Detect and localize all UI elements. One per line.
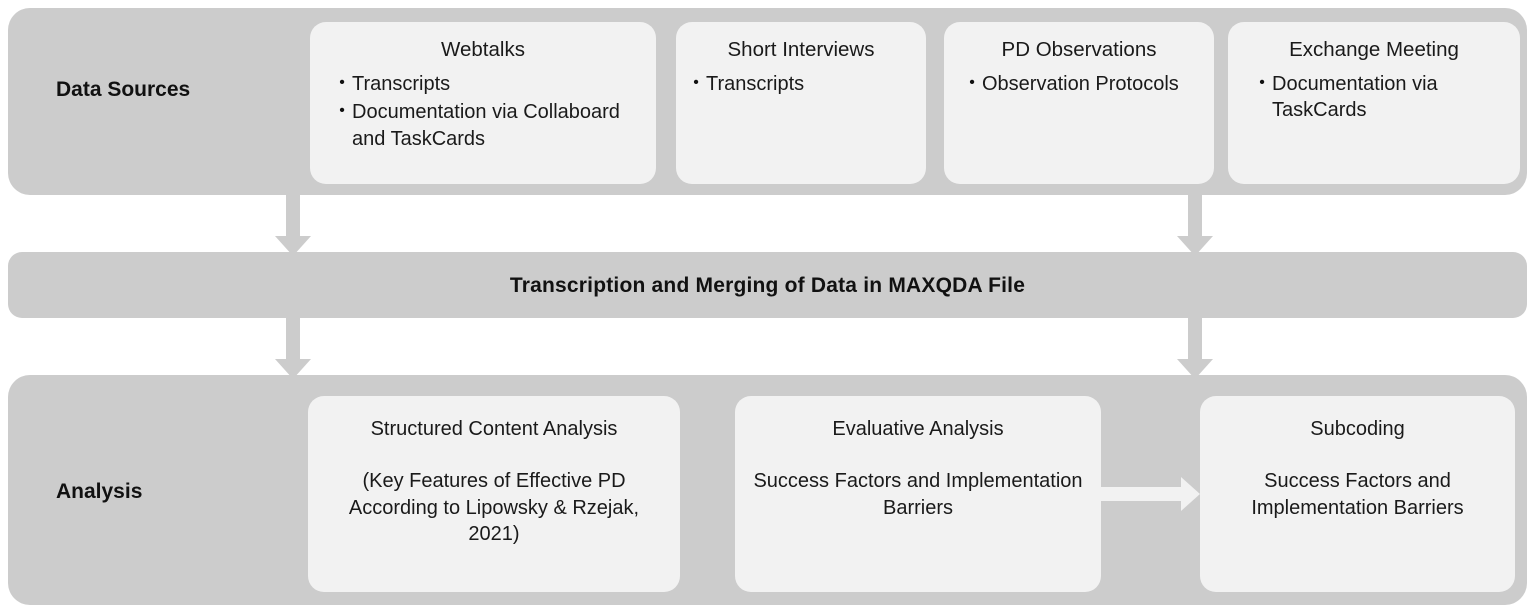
- card-evaluative-analysis-detail: Success Factors and Implementation Barri…: [751, 468, 1085, 521]
- list-item-label: Transcripts: [706, 71, 912, 97]
- list-item: • Documentation via Collaboard and TaskC…: [332, 99, 646, 152]
- data-sources-label: Data Sources: [56, 78, 190, 102]
- arrow-stem: [286, 192, 300, 238]
- card-subcoding[interactable]: Subcoding Success Factors and Implementa…: [1200, 396, 1515, 592]
- list-item-label: Documentation via Collaboard and TaskCar…: [352, 99, 646, 152]
- card-evaluative-analysis[interactable]: Evaluative Analysis Success Factors and …: [735, 396, 1101, 592]
- spacer: [324, 442, 664, 468]
- arrow-down-sources-to-merge-left: [275, 192, 311, 256]
- card-webtalks-title: Webtalks: [310, 22, 656, 63]
- card-pd-observations-body: • Observation Protocols: [944, 63, 1214, 97]
- card-subcoding-title: Subcoding: [1216, 416, 1499, 442]
- card-webtalks-body: • Transcripts • Documentation via Collab…: [310, 63, 656, 152]
- arrow-stem: [286, 315, 300, 361]
- card-webtalks[interactable]: Webtalks • Transcripts • Documentation v…: [310, 22, 656, 184]
- card-structured-content-analysis-body: Structured Content Analysis (Key Feature…: [308, 396, 680, 548]
- spacer: [1216, 442, 1499, 468]
- arrow-stem: [1188, 315, 1202, 361]
- arrow-down-merge-to-analysis-right: [1177, 315, 1213, 379]
- arrow-down-merge-to-analysis-left: [275, 315, 311, 379]
- bullet-icon: •: [686, 71, 706, 96]
- list-item: • Observation Protocols: [962, 71, 1200, 97]
- list-item: • Transcripts: [686, 71, 912, 97]
- arrow-stem: [1188, 192, 1202, 238]
- merge-label: Transcription and Merging of Data in MAX…: [0, 274, 1535, 298]
- bullet-icon: •: [962, 71, 982, 96]
- card-structured-content-analysis-detail: (Key Features of Effective PD According …: [324, 468, 664, 547]
- list-item: • Documentation via TaskCards: [1252, 71, 1506, 124]
- card-structured-content-analysis[interactable]: Structured Content Analysis (Key Feature…: [308, 396, 680, 592]
- bullet-icon: •: [332, 71, 352, 96]
- card-exchange-meeting-title: Exchange Meeting: [1228, 22, 1520, 63]
- card-short-interviews-body: • Transcripts: [676, 63, 926, 97]
- card-subcoding-detail: Success Factors and Implementation Barri…: [1216, 468, 1499, 521]
- diagram-canvas: Data Sources Webtalks • Transcripts • Do…: [0, 0, 1535, 615]
- card-evaluative-analysis-title: Evaluative Analysis: [751, 416, 1085, 442]
- list-item-label: Transcripts: [352, 71, 646, 97]
- list-item-label: Observation Protocols: [982, 71, 1200, 97]
- card-exchange-meeting[interactable]: Exchange Meeting • Documentation via Tas…: [1228, 22, 1520, 184]
- arrow-head: [1181, 477, 1200, 511]
- card-evaluative-analysis-body: Evaluative Analysis Success Factors and …: [735, 396, 1101, 521]
- spacer: [751, 442, 1085, 468]
- arrow-right-evaluative-to-subcoding: [1101, 477, 1201, 511]
- analysis-label: Analysis: [56, 480, 142, 504]
- list-item: • Transcripts: [332, 71, 646, 97]
- bullet-icon: •: [1252, 71, 1272, 96]
- arrow-down-sources-to-merge-right: [1177, 192, 1213, 256]
- card-short-interviews[interactable]: Short Interviews • Transcripts: [676, 22, 926, 184]
- arrow-stem: [1101, 487, 1183, 501]
- card-pd-observations-title: PD Observations: [944, 22, 1214, 63]
- card-short-interviews-title: Short Interviews: [676, 22, 926, 63]
- list-item-label: Documentation via TaskCards: [1272, 71, 1506, 124]
- card-structured-content-analysis-title: Structured Content Analysis: [324, 416, 664, 442]
- card-pd-observations[interactable]: PD Observations • Observation Protocols: [944, 22, 1214, 184]
- card-exchange-meeting-body: • Documentation via TaskCards: [1228, 63, 1520, 124]
- bullet-icon: •: [332, 99, 352, 124]
- card-subcoding-body: Subcoding Success Factors and Implementa…: [1200, 396, 1515, 521]
